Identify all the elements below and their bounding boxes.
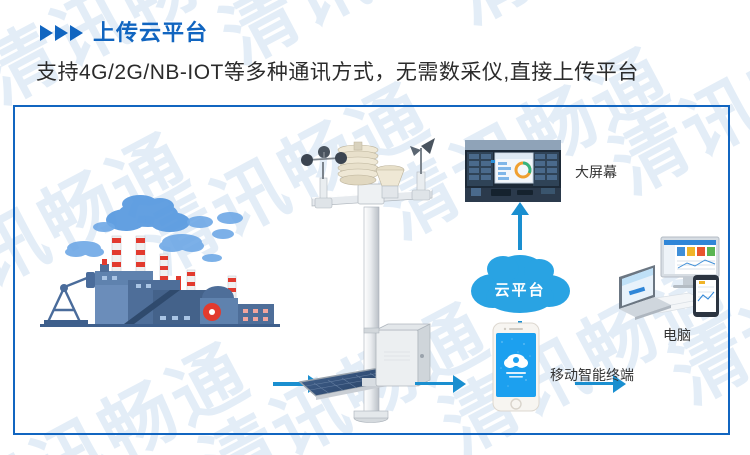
cloud-platform[interactable]: 云平台: [465, 247, 575, 323]
computer-terminal: [615, 235, 728, 325]
triangle-right-icon: [55, 25, 68, 41]
mobile-smart-terminal-label: 移动智能终端: [550, 365, 634, 385]
title-row: 上传云平台: [40, 22, 208, 44]
page-title: 上传云平台: [93, 22, 208, 44]
arrow-station-to-cloud: [415, 375, 467, 393]
page-subtitle: 支持4G/2G/NB-IOT等多种通讯方式，无需数采仪,直接上传平台: [36, 56, 639, 86]
triangle-right-icon: [40, 25, 53, 41]
large-display-screen: [465, 140, 561, 202]
triangle-right-icon: [70, 25, 83, 41]
diagram-canvas: 云平台: [15, 107, 728, 433]
mobile-smart-terminal: [492, 322, 540, 412]
cloud-platform-label: 云平台: [465, 247, 575, 323]
industrial-pollution-source: [40, 192, 280, 327]
large-display-screen-label: 大屏幕: [575, 162, 617, 182]
arrow-cloud-to-bigscreen: [511, 202, 529, 250]
computer-terminal-label: 电脑: [663, 325, 691, 345]
header: 上传云平台 支持4G/2G/NB-IOT等多种通讯方式，无需数采仪,直接上传平台: [0, 0, 750, 105]
diagram-panel: 云平台: [13, 105, 730, 435]
